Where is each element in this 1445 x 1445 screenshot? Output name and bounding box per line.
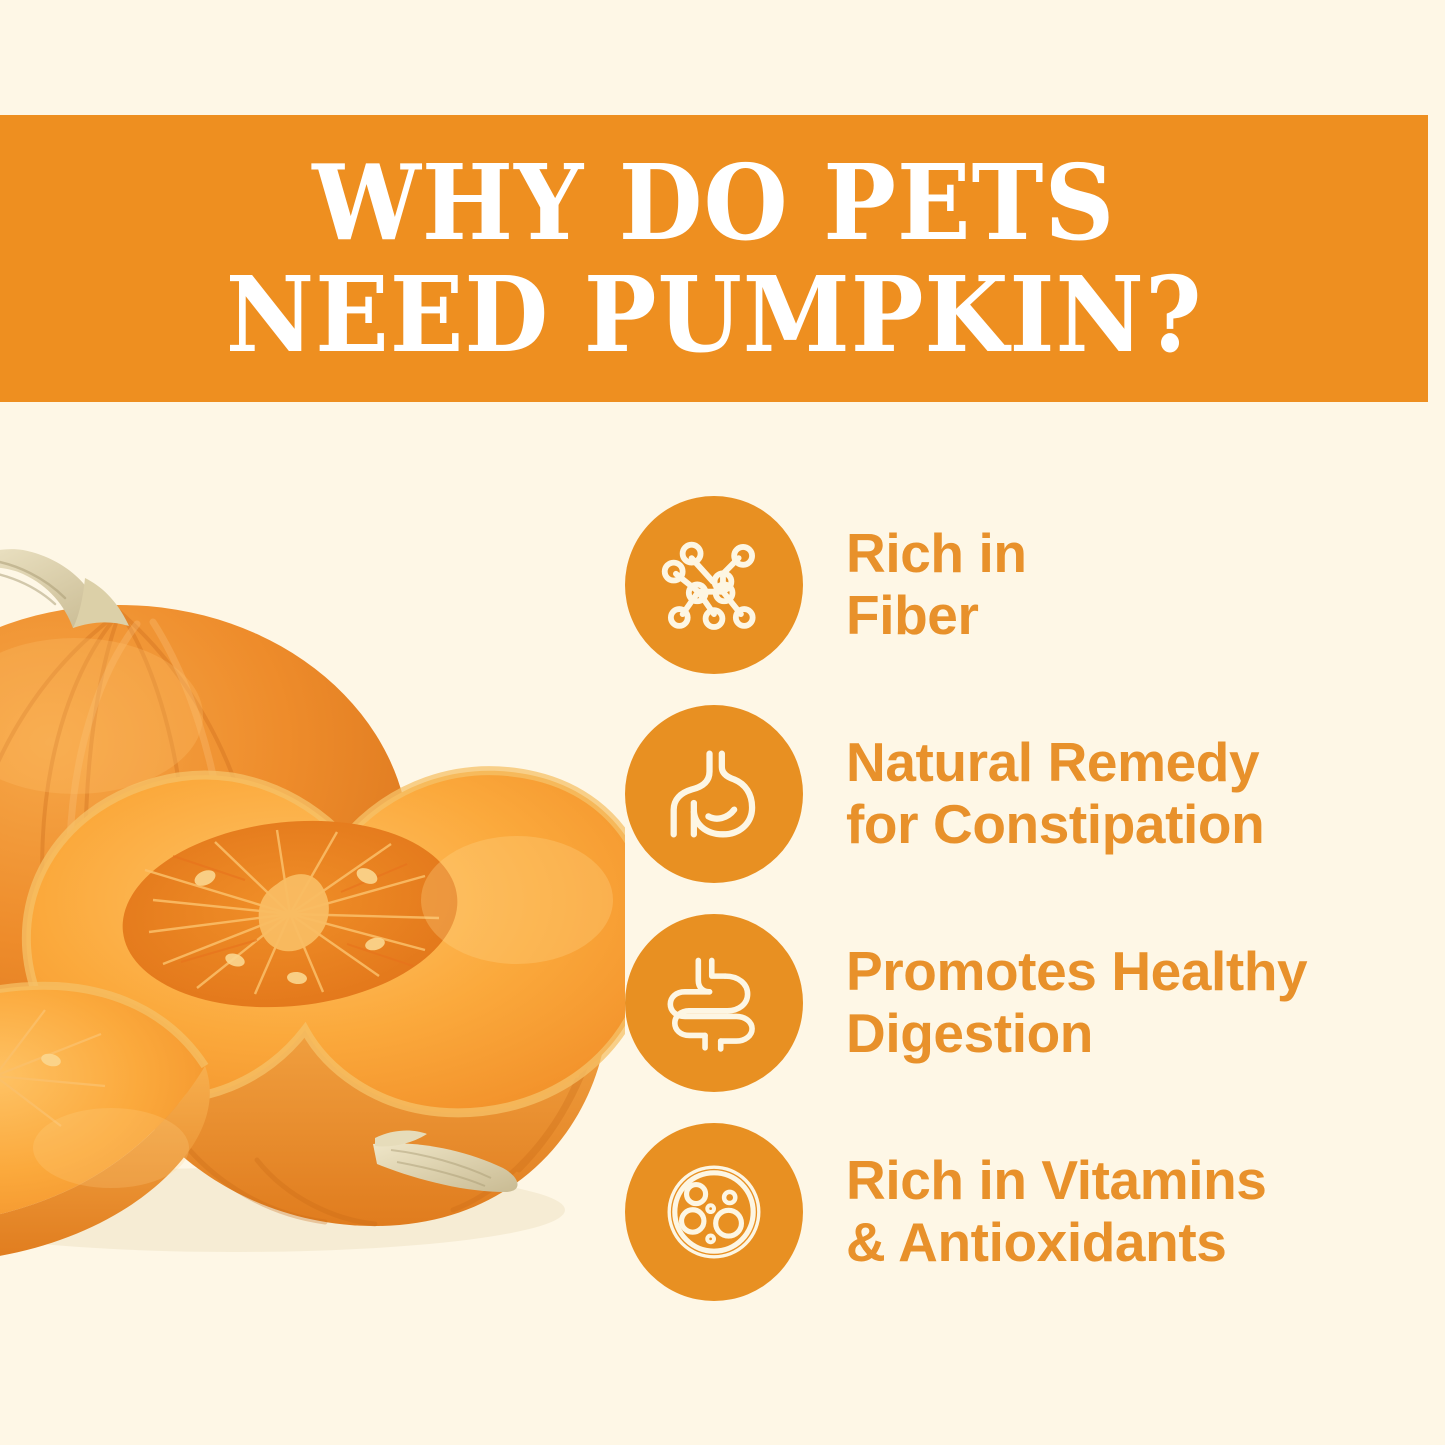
page-title-line-1: WHY DO PETS — [312, 147, 1115, 258]
benefit-icon-badge — [625, 705, 803, 883]
benefit-item-fiber: Rich in Fiber — [625, 492, 1415, 677]
page-title-line-2: NEED PUMPKIN? — [226, 259, 1203, 370]
benefit-label-vitamins: Rich in Vitamins & Antioxidants — [846, 1150, 1266, 1273]
benefit-label-constipation: Natural Remedy for Constipation — [846, 732, 1264, 855]
benefit-label-fiber: Rich in Fiber — [846, 523, 1027, 646]
benefit-item-vitamins: Rich in Vitamins & Antioxidants — [625, 1119, 1415, 1304]
benefit-label-digestion: Promotes Healthy Digestion — [846, 941, 1307, 1064]
benefit-item-digestion: Promotes Healthy Digestion — [625, 910, 1415, 1095]
benefits-list: Rich in Fiber Natural Remedy for Constip… — [625, 492, 1415, 1304]
benefit-icon-badge — [625, 1123, 803, 1301]
intestines-icon — [658, 947, 770, 1059]
benefit-item-constipation: Natural Remedy for Constipation — [625, 701, 1415, 886]
benefit-icon-badge — [625, 914, 803, 1092]
pumpkin-illustration — [0, 520, 625, 1310]
benefit-icon-badge — [625, 496, 803, 674]
header-banner: WHY DO PETS NEED PUMPKIN? — [0, 115, 1428, 402]
petri-dish-icon — [658, 1156, 770, 1268]
fiber-molecule-icon — [658, 529, 770, 641]
stomach-icon — [658, 738, 770, 850]
infographic-poster: WHY DO PETS NEED PUMPKIN? — [0, 0, 1445, 1445]
